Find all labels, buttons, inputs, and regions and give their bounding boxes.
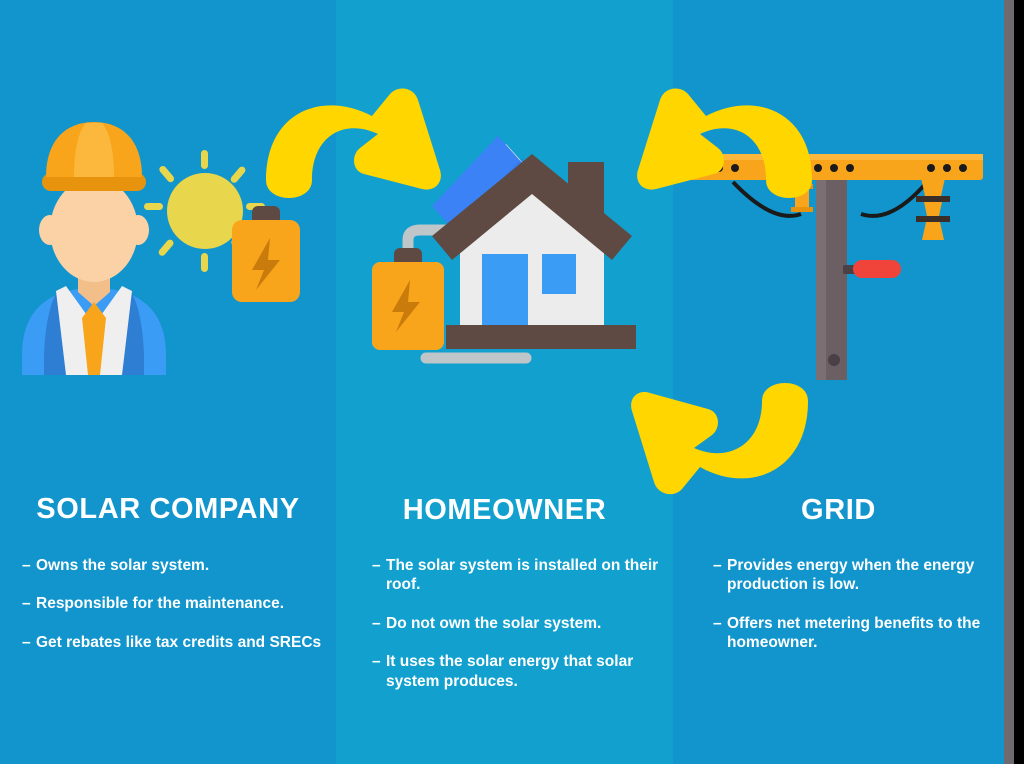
list-item: – Owns the solar system.	[22, 556, 322, 575]
insulator-ring-1-icon	[916, 196, 950, 202]
engineer-ear-left-icon	[39, 215, 61, 245]
bullet-marker: –	[22, 594, 31, 613]
list-item: – The solar system is installed on their…	[372, 556, 662, 595]
house-window-icon	[542, 254, 576, 294]
list-item-text: Do not own the solar system.	[386, 615, 601, 632]
list-item: – Do not own the solar system.	[372, 614, 662, 633]
list-item: – Responsible for the maintenance.	[22, 594, 322, 613]
list-item: – It uses the solar energy that solar sy…	[372, 652, 662, 691]
house-door-icon	[482, 254, 528, 332]
transformer-icon	[853, 260, 901, 278]
page-title-homeowner: HOMEOWNER	[336, 494, 673, 527]
list-item-text: Provides energy when the energy producti…	[727, 557, 974, 593]
curved-arrow-homeowner-to-grid-icon	[608, 385, 823, 495]
list-item: – Provides energy when the energy produc…	[713, 556, 988, 595]
list-item: – Get rebates like tax credits and SRECs	[22, 633, 322, 652]
infographic-canvas: SOLAR COMPANY – Owns the solar system. –…	[0, 0, 1024, 764]
bullet-list-homeowner: – The solar system is installed on their…	[372, 556, 662, 710]
engineer-ear-right-icon	[127, 215, 149, 245]
bullet-marker: –	[22, 556, 31, 575]
vertical-scrollbar[interactable]	[1004, 0, 1014, 764]
bullet-list-grid: – Provides energy when the energy produc…	[713, 556, 988, 672]
curved-arrow-solar-to-homeowner-icon	[252, 82, 462, 192]
window-edge	[1014, 0, 1024, 764]
list-item: – Offers net metering benefits to the ho…	[713, 614, 988, 653]
pole-bolt-icon	[828, 354, 840, 366]
bullet-marker: –	[372, 652, 381, 671]
bullet-marker: –	[372, 556, 381, 575]
insulator-top-icon	[921, 178, 945, 196]
list-item-text: Offers net metering benefits to the home…	[727, 615, 980, 651]
insulator-bottom-icon	[922, 222, 944, 240]
insulator-ring-2-icon	[916, 216, 950, 222]
house-foundation-icon	[446, 325, 636, 349]
page-title-solar-company: SOLAR COMPANY	[0, 493, 336, 526]
page-title-grid: GRID	[673, 494, 1004, 527]
engineer-head-icon	[50, 178, 138, 282]
insulator-mid-icon	[924, 202, 942, 216]
pole-shaft-highlight-icon	[816, 162, 826, 380]
bullet-marker: –	[713, 614, 722, 633]
bullet-marker: –	[22, 633, 31, 652]
bracket-bottom-icon	[791, 207, 813, 212]
bullet-list-solar-company: – Owns the solar system. – Responsible f…	[22, 556, 322, 671]
sun-disc-icon	[167, 173, 243, 249]
bullet-marker: –	[713, 556, 722, 575]
list-item-text: The solar system is installed on their r…	[386, 557, 658, 593]
list-item-text: It uses the solar energy that solar syst…	[386, 653, 633, 689]
list-item-text: Get rebates like tax credits and SRECs	[36, 634, 321, 651]
bullet-marker: –	[372, 614, 381, 633]
curved-arrow-grid-to-homeowner-icon	[612, 82, 827, 192]
list-item-text: Owns the solar system.	[36, 557, 209, 574]
list-item-text: Responsible for the maintenance.	[36, 595, 284, 612]
